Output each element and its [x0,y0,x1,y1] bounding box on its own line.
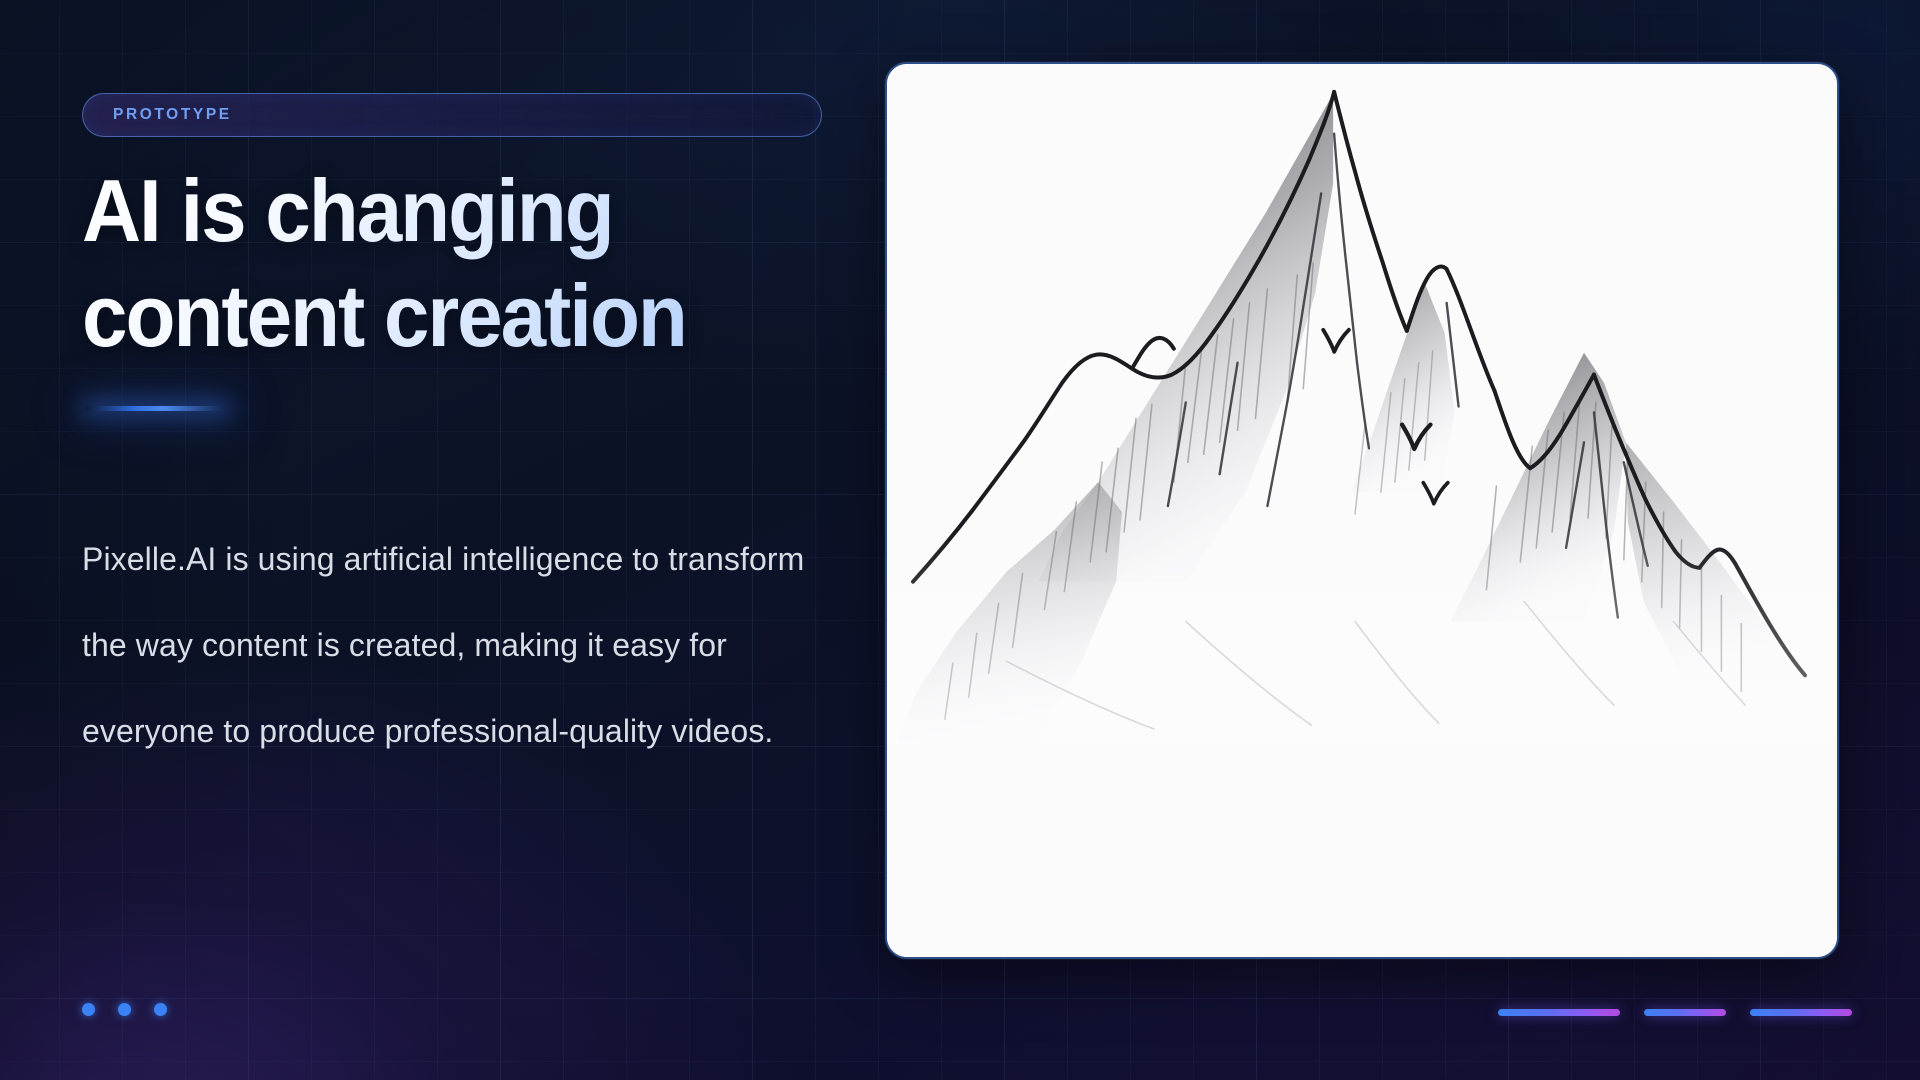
title-accent-bar [85,406,227,411]
slide-dot-2[interactable] [118,1003,131,1016]
mountain-sketch-illustration [887,64,1837,957]
left-content-column: PROTOTYPE AI is changing content creatio… [82,0,842,1080]
progress-bar-3[interactable] [1750,1009,1852,1016]
body-paragraph: Pixelle.AI is using artificial intellige… [82,516,842,774]
slide-canvas: PROTOTYPE AI is changing content creatio… [0,0,1920,1080]
slide-dot-1[interactable] [82,1003,95,1016]
slide-dot-3[interactable] [154,1003,167,1016]
slide-dots-indicator[interactable] [82,1003,167,1016]
progress-bars-group[interactable] [1498,1009,1852,1016]
prototype-badge-label: PROTOTYPE [113,106,232,124]
progress-bar-1[interactable] [1498,1009,1620,1016]
page-title: AI is changing content creation [82,158,789,368]
prototype-badge: PROTOTYPE [82,93,822,137]
progress-bar-2[interactable] [1644,1009,1726,1016]
page-title-line-2: content creation [82,263,789,368]
media-card[interactable] [885,62,1839,959]
page-title-line-1: AI is changing [82,158,789,263]
